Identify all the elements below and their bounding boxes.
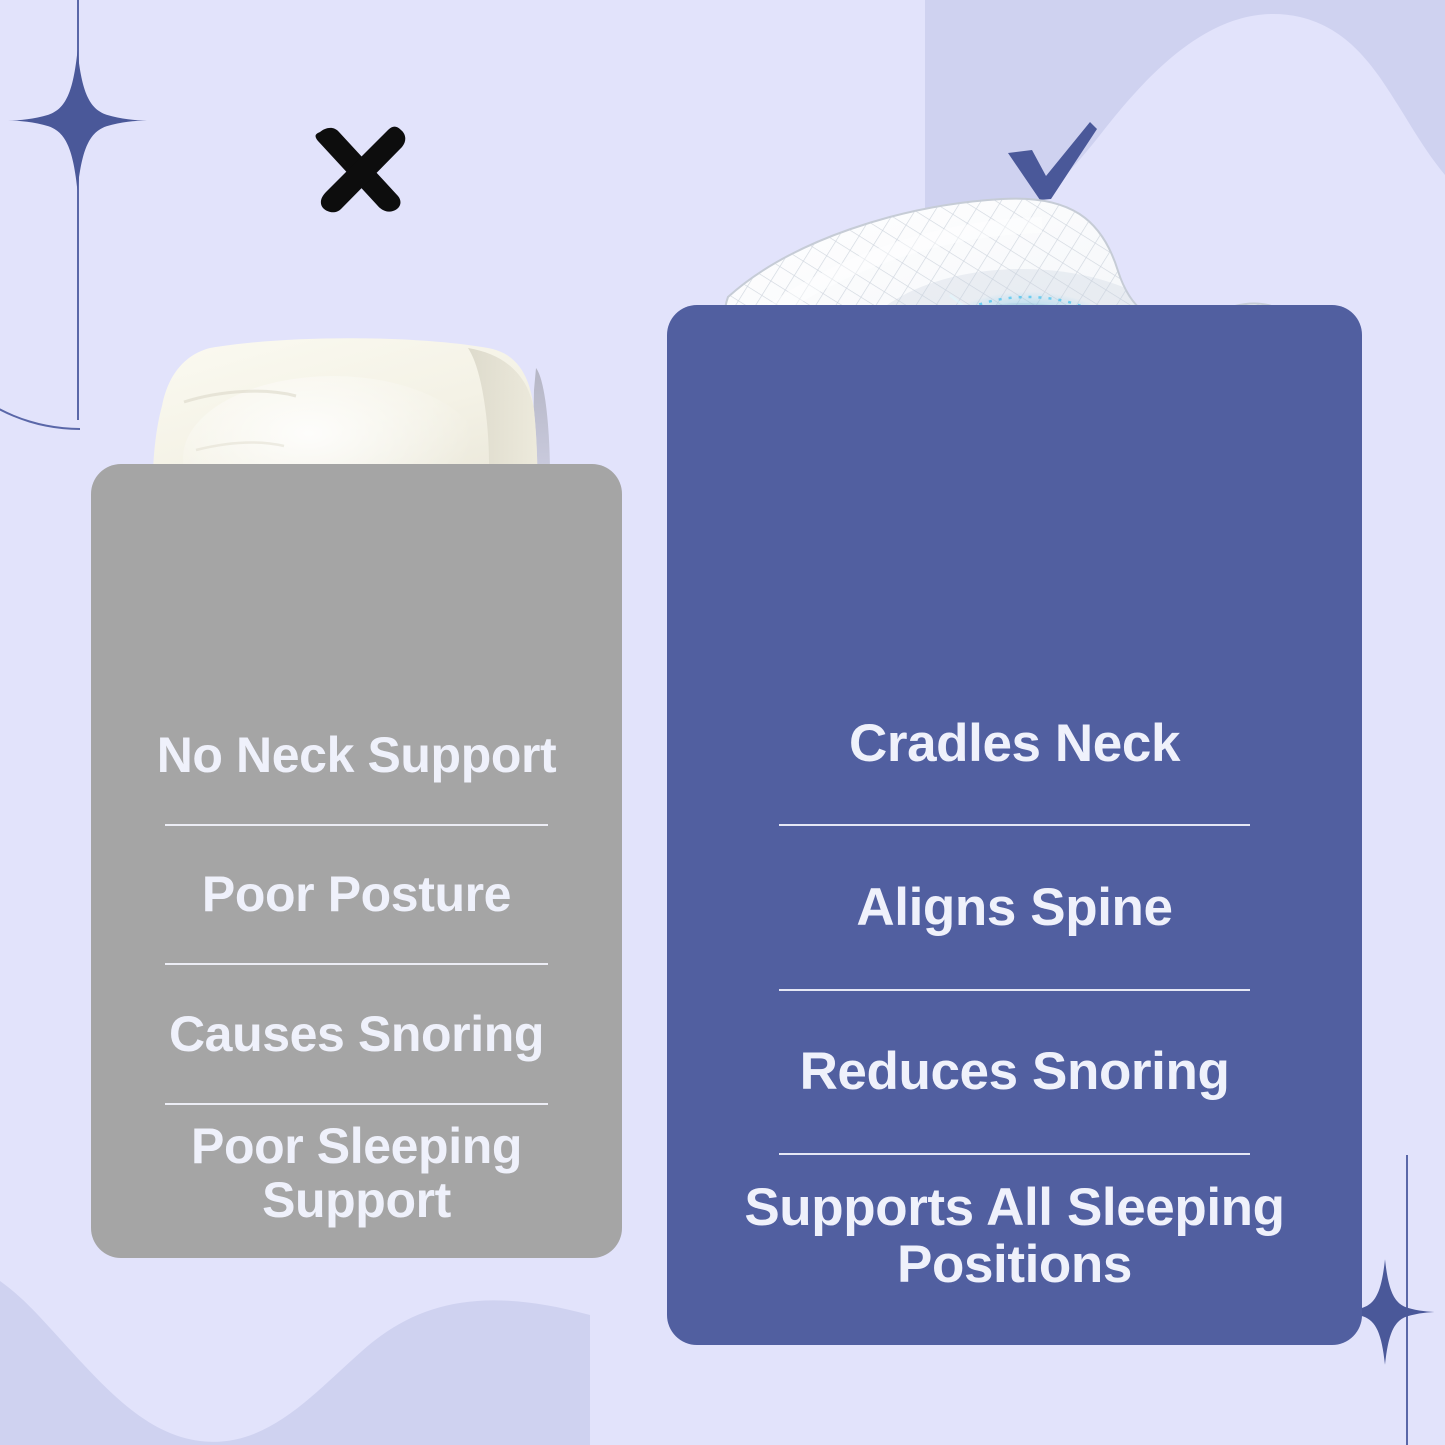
feature-item: Causes Snoring xyxy=(109,965,604,1103)
feature-list-standard-pillow: No Neck Support Poor Posture Causes Snor… xyxy=(91,686,622,1258)
sparkle-star-icon-top-left xyxy=(5,48,150,193)
feature-item: Aligns Spine xyxy=(703,826,1326,988)
feature-divider xyxy=(165,1103,548,1105)
feature-divider xyxy=(779,1153,1250,1155)
feature-divider xyxy=(779,824,1250,826)
feature-item: No Neck Support xyxy=(109,686,604,824)
curve-top-left-decoration xyxy=(0,255,80,430)
comparison-card-standard-pillow: No Neck Support Poor Posture Causes Snor… xyxy=(91,464,622,1258)
feature-divider xyxy=(779,989,1250,991)
infographic-canvas: No Neck Support Poor Posture Causes Snor… xyxy=(0,0,1445,1445)
feature-item: Poor Sleeping Support xyxy=(109,1105,604,1243)
feature-list-memory-foam-pillow: Cradles Neck Aligns Spine Reduces Snorin… xyxy=(667,662,1362,1345)
feature-item: Reduces Snoring xyxy=(703,991,1326,1153)
x-mark-icon xyxy=(306,116,414,214)
feature-divider xyxy=(165,824,548,826)
blob-top-right-decoration xyxy=(925,0,1445,255)
check-mark-icon xyxy=(1004,120,1100,202)
comparison-card-memory-foam-pillow: Cradles Neck Aligns Spine Reduces Snorin… xyxy=(667,305,1362,1345)
feature-item: Poor Posture xyxy=(109,826,604,964)
feature-item: Supports All Sleeping Positions xyxy=(703,1155,1326,1317)
line-bottom-right-decoration xyxy=(1406,1155,1408,1445)
line-top-left-decoration xyxy=(77,0,79,420)
feature-item: Cradles Neck xyxy=(703,662,1326,824)
feature-divider xyxy=(165,963,548,965)
